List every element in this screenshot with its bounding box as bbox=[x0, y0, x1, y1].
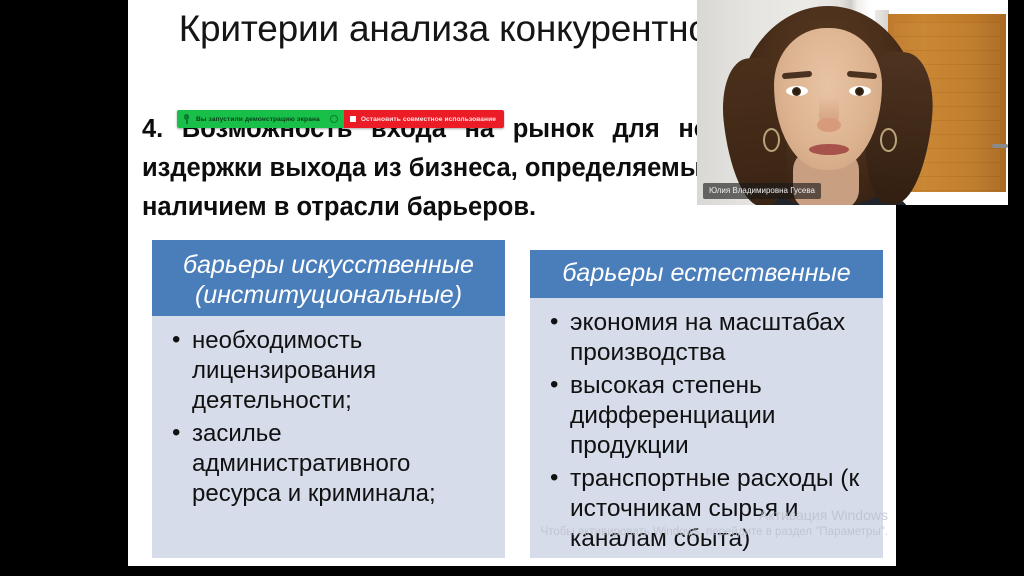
participant-earring-right bbox=[880, 128, 897, 152]
barriers-artificial-box: барьеры искусственные (институциональные… bbox=[152, 240, 505, 558]
barriers-artificial-body: необходимость лицензирования деятельност… bbox=[152, 316, 505, 509]
screen-share-viewport: Критерии анализа конкурентной среды 4. В… bbox=[0, 0, 1024, 576]
barriers-natural-list: экономия на масштабах производства высок… bbox=[548, 308, 873, 554]
barriers-natural-body: экономия на масштабах производства высок… bbox=[530, 298, 883, 554]
microphone-icon[interactable] bbox=[183, 114, 190, 124]
webcam-right-letterbox bbox=[1008, 0, 1024, 205]
participant-name-label: Юлия Владимировна Гусева bbox=[703, 183, 821, 199]
webcam-video-tile[interactable]: Юлия Владимировна Гусева bbox=[697, 0, 1024, 205]
share-status-group[interactable]: Вы запустили демонстрацию экрана bbox=[177, 110, 344, 128]
list-item: экономия на масштабах производства bbox=[548, 308, 873, 368]
list-item: высокая степень дифференциации продукции bbox=[548, 371, 873, 461]
stop-sharing-button[interactable]: Остановить совместное использование bbox=[344, 110, 504, 128]
barriers-natural-box: барьеры естественные экономия на масштаб… bbox=[530, 250, 883, 558]
participant-eye-left bbox=[786, 86, 808, 96]
screen-share-toolbar[interactable]: Вы запустили демонстрацию экрана Останов… bbox=[177, 110, 504, 128]
barriers-artificial-list: необходимость лицензирования деятельност… bbox=[170, 326, 495, 509]
stop-square-icon bbox=[350, 116, 356, 122]
participant-earring-left bbox=[763, 128, 780, 152]
barriers-natural-header: барьеры естественные bbox=[530, 250, 883, 298]
list-item: необходимость лицензирования деятельност… bbox=[170, 326, 495, 416]
participant-nose-tip bbox=[817, 118, 841, 132]
stop-sharing-label: Остановить совместное использование bbox=[361, 116, 496, 123]
gear-icon[interactable] bbox=[330, 115, 338, 123]
participant-lips bbox=[809, 144, 849, 155]
share-status-text: Вы запустили демонстрацию экрана bbox=[196, 116, 320, 123]
list-item: транспортные расходы (к источникам сырья… bbox=[548, 464, 873, 554]
list-item: засилье административного ресурса и крим… bbox=[170, 419, 495, 509]
door-handle-icon bbox=[992, 144, 1008, 148]
participant-eye-right bbox=[849, 86, 871, 96]
barriers-artificial-header: барьеры искусственные (институциональные… bbox=[152, 240, 505, 316]
